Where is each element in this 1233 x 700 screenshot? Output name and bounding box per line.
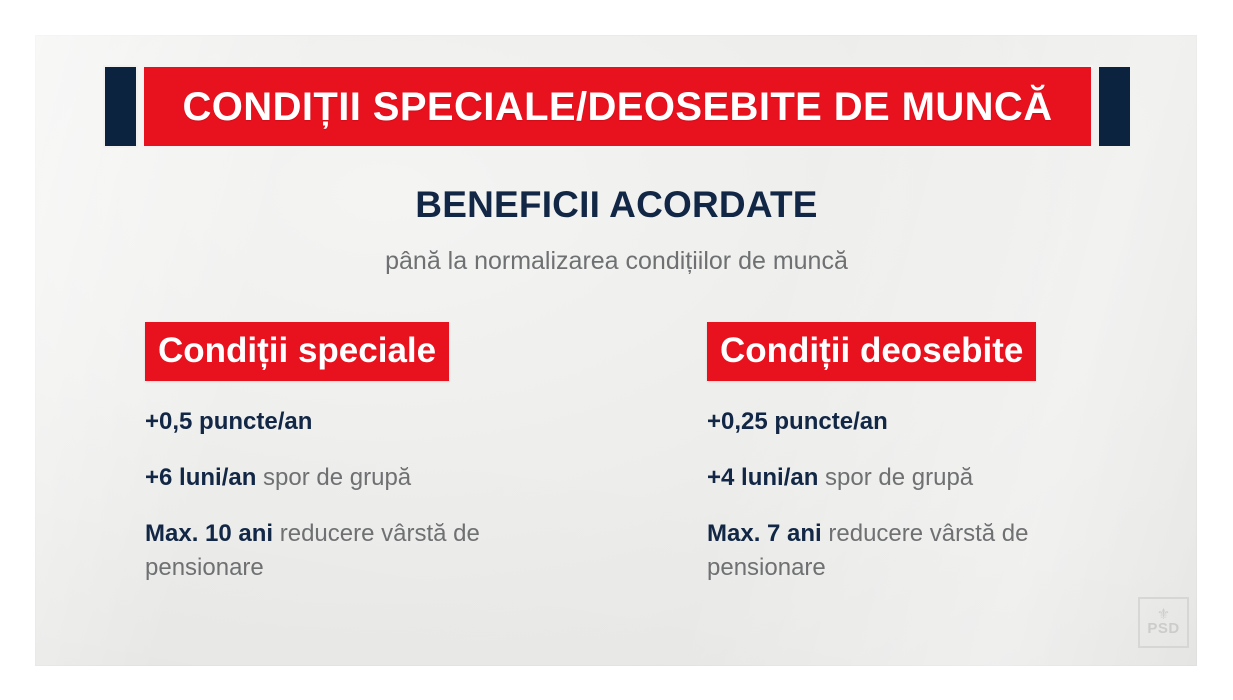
column-conditii-deosebite: Condiții deosebite +0,25 puncte/an +4 lu… <box>707 322 1177 585</box>
benefit-value: +0,25 puncte/an <box>707 408 888 435</box>
banner-body: CONDIȚII SPECIALE/DEOSEBITE DE MUNCĂ <box>144 67 1091 146</box>
page-subtitle: până la normalizarea condițiilor de munc… <box>0 247 1233 276</box>
banner-cap-right-icon <box>1099 67 1130 146</box>
list-item: +4 luni/an spor de grupă <box>707 461 1127 495</box>
column-conditii-speciale: Condiții speciale +0,5 puncte/an +6 luni… <box>145 322 615 585</box>
list-item: +0,5 puncte/an <box>145 405 565 439</box>
list-item: +6 luni/an spor de grupă <box>145 461 565 495</box>
benefit-label: spor de grupă <box>818 464 973 491</box>
benefit-list-deosebite: +0,25 puncte/an +4 luni/an spor de grupă… <box>707 405 1177 585</box>
slide-root: CONDIȚII SPECIALE/DEOSEBITE DE MUNCĂ BEN… <box>0 0 1233 700</box>
title-banner: CONDIȚII SPECIALE/DEOSEBITE DE MUNCĂ <box>105 67 1130 146</box>
benefit-value: +4 luni/an <box>707 464 818 491</box>
banner-title: CONDIȚII SPECIALE/DEOSEBITE DE MUNCĂ <box>182 87 1052 127</box>
column-header-speciale: Condiții speciale <box>145 322 449 381</box>
psd-logo-text: PSD <box>1147 621 1179 637</box>
benefit-value: +0,5 puncte/an <box>145 408 312 435</box>
benefit-value: +6 luni/an <box>145 464 256 491</box>
psd-logo-watermark: ⚜ PSD <box>1138 597 1189 648</box>
benefit-list-speciale: +0,5 puncte/an +6 luni/an spor de grupă … <box>145 405 615 585</box>
banner-cap-left-icon <box>105 67 136 146</box>
benefit-label: spor de grupă <box>256 464 411 491</box>
page-title: BENEFICII ACORDATE <box>0 186 1233 225</box>
benefit-value: Max. 7 ani <box>707 520 822 547</box>
list-item: Max. 10 ani reducere vârstă de pensionar… <box>145 517 565 585</box>
list-item: +0,25 puncte/an <box>707 405 1127 439</box>
benefit-value: Max. 10 ani <box>145 520 273 547</box>
list-item: Max. 7 ani reducere vârstă de pensionare <box>707 517 1127 585</box>
column-header-deosebite: Condiții deosebite <box>707 322 1036 381</box>
